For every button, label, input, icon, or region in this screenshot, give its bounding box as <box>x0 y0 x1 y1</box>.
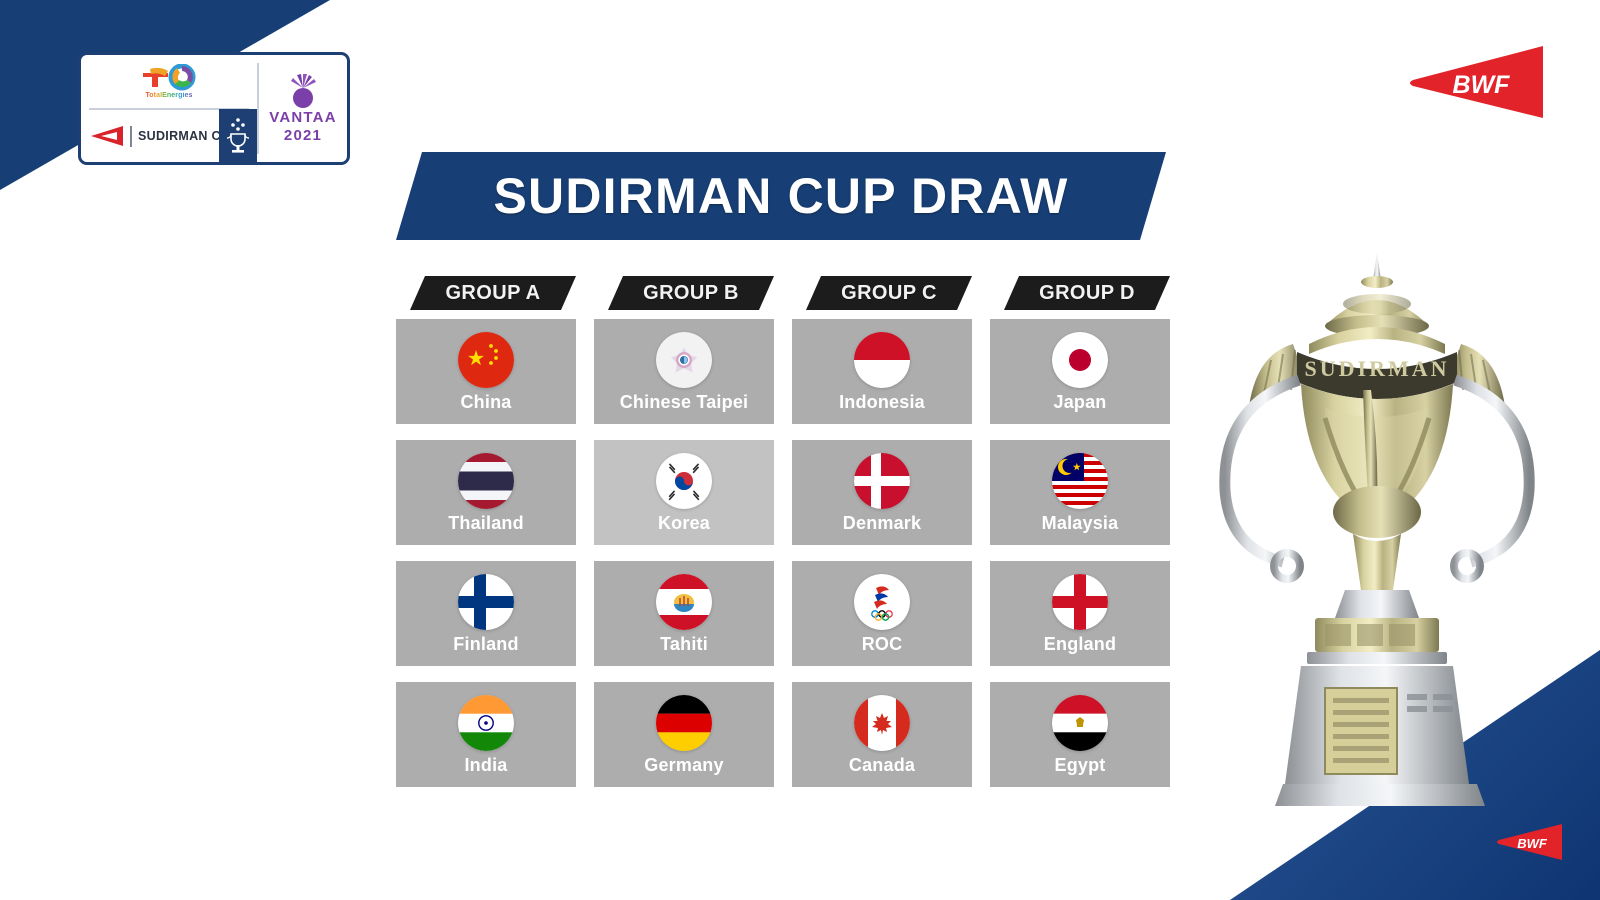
team-cell-germany[interactable]: Germany <box>594 682 774 787</box>
flag-china-icon <box>458 332 514 388</box>
bwf-logo-corner: BWF <box>1494 822 1564 862</box>
team-cell-india[interactable]: India <box>396 682 576 787</box>
team-name: Canada <box>849 756 915 774</box>
title-banner: SUDIRMAN CUP DRAW <box>396 152 1166 240</box>
flag-malaysia-icon <box>1052 453 1108 509</box>
sudirman-delta-icon <box>90 125 124 147</box>
team-name: Malaysia <box>1042 514 1119 532</box>
team-name: England <box>1044 635 1116 653</box>
flag-england-icon <box>1052 574 1108 630</box>
totalenergies-logo: TotalEnergies <box>81 55 257 108</box>
flag-tahiti-icon <box>656 574 712 630</box>
flag-thailand-icon <box>458 453 514 509</box>
totalenergies-mark <box>138 64 200 91</box>
team-cell-finland[interactable]: Finland <box>396 561 576 666</box>
team-name: Egypt <box>1054 756 1105 774</box>
shuttlecock-icon <box>284 73 322 109</box>
flag-japan-icon <box>1052 332 1108 388</box>
flag-chinese-taipei-icon <box>656 332 712 388</box>
flag-germany-icon <box>656 695 712 751</box>
team-name: Korea <box>658 514 710 532</box>
page-title: SUDIRMAN CUP DRAW <box>493 167 1068 225</box>
trophy-engraving: SUDIRMAN <box>1305 356 1450 381</box>
team-cell-denmark[interactable]: Denmark <box>792 440 972 545</box>
flag-canada-icon <box>854 695 910 751</box>
team-name: ROC <box>862 635 903 653</box>
group-column-c: GROUP C Indonesia Denmark <box>792 276 972 803</box>
totalenergies-wordmark: TotalEnergies <box>145 92 192 99</box>
sudirman-cup-trophy: SUDIRMAN <box>1175 248 1585 818</box>
bwf-logo: BWF <box>1405 42 1545 122</box>
flag-india-icon <box>458 695 514 751</box>
team-cell-roc[interactable]: ROC <box>792 561 972 666</box>
team-name: Germany <box>644 756 723 774</box>
team-cell-thailand[interactable]: Thailand <box>396 440 576 545</box>
group-header-label: GROUP A <box>445 282 540 305</box>
team-name: Japan <box>1053 393 1106 411</box>
group-header-label: GROUP B <box>643 282 739 305</box>
team-cell-korea[interactable]: Korea <box>594 440 774 545</box>
group-header-b: GROUP B <box>608 276 774 310</box>
group-header-c: GROUP C <box>806 276 972 310</box>
team-cell-england[interactable]: England <box>990 561 1170 666</box>
team-cell-chinese-taipei[interactable]: Chinese Taipei <box>594 319 774 424</box>
flag-indonesia-icon <box>854 332 910 388</box>
group-column-b: GROUP B Chinese Taipei <box>594 276 774 803</box>
sudirman-trophy-icon <box>225 115 251 159</box>
flag-finland-icon <box>458 574 514 630</box>
team-name: Thailand <box>448 514 524 532</box>
team-name: Chinese Taipei <box>620 393 749 411</box>
team-cell-tahiti[interactable]: Tahiti <box>594 561 774 666</box>
team-name: India <box>464 756 507 774</box>
event-logo-left: TotalEnergies SUDIRMAN CUP <box>81 55 257 162</box>
bwf-logo-text: BWF <box>1453 71 1511 99</box>
team-cell-egypt[interactable]: Egypt <box>990 682 1170 787</box>
logo-divider-vertical <box>130 126 132 147</box>
team-name: Tahiti <box>660 635 708 653</box>
team-name: Indonesia <box>839 393 925 411</box>
sudirman-trophy-chip <box>219 109 257 165</box>
team-cell-canada[interactable]: Canada <box>792 682 972 787</box>
vantaa-host-logo: VANTAA 2021 <box>259 55 347 162</box>
vantaa-city-label: VANTAA <box>269 110 336 126</box>
team-cell-malaysia[interactable]: Malaysia <box>990 440 1170 545</box>
group-header-a: GROUP A <box>410 276 576 310</box>
group-column-a: GROUP A China Thailand <box>396 276 576 803</box>
team-cell-indonesia[interactable]: Indonesia <box>792 319 972 424</box>
flag-roc-icon <box>854 574 910 630</box>
flag-korea-icon <box>656 453 712 509</box>
team-name: China <box>460 393 511 411</box>
flag-egypt-icon <box>1052 695 1108 751</box>
group-header-d: GROUP D <box>1004 276 1170 310</box>
team-name: Finland <box>453 635 518 653</box>
group-header-label: GROUP C <box>841 282 937 305</box>
team-name: Denmark <box>843 514 921 532</box>
draw-grid: GROUP A China Thailand <box>396 276 1170 803</box>
event-logo-lockup: TotalEnergies SUDIRMAN CUP <box>78 52 350 165</box>
bwf-logo-corner-text: BWF <box>1517 836 1548 851</box>
flag-denmark-icon <box>854 453 910 509</box>
vantaa-year-label: 2021 <box>284 127 322 144</box>
team-cell-china[interactable]: China <box>396 319 576 424</box>
group-column-d: GROUP D Japan <box>990 276 1170 803</box>
team-cell-japan[interactable]: Japan <box>990 319 1170 424</box>
group-header-label: GROUP D <box>1039 282 1135 305</box>
